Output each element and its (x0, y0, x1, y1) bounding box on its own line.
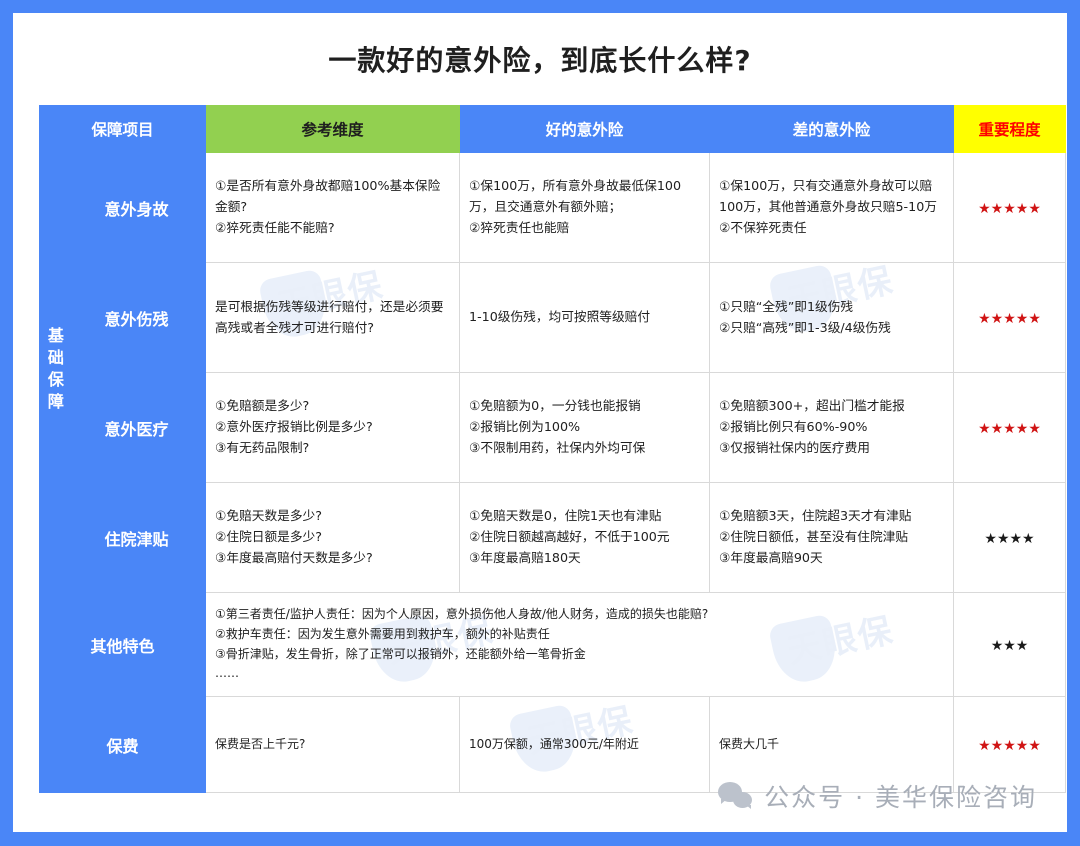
page-title: 一款好的意外险，到底长什么样? (13, 13, 1067, 79)
wechat-icon (718, 782, 754, 810)
cell-good: 1-10级伤残，均可按照等级赔付 (460, 263, 710, 373)
cell-other-features: ①第三者责任/监护人责任：因为个人原因，意外损伤他人身故/他人财务，造成的损失也… (206, 593, 954, 697)
star-rating: ★★★★ (984, 531, 1034, 547)
cell-importance: ★★★ (954, 593, 1066, 697)
cell-reference: ①是否所有意外身故都赔100%基本保险金额? ②猝死责任能不能赔? (206, 153, 460, 263)
cell-importance: ★★★★★ (954, 153, 1066, 263)
row-item-label: 意外伤残 (68, 263, 206, 373)
page-frame: 天眼保 天眼保 天眼保 天眼保 天眼保 一款好的意外险，到底长什么样? 保障项目 (0, 0, 1080, 846)
cell-bad: ①免赔额3天，住院超3天才有津贴 ②住院日额低，甚至没有住院津贴 ③年度最高赔9… (710, 483, 954, 593)
table-header-row: 保障项目 参考维度 好的意外险 差的意外险 重要程度 (40, 106, 1066, 153)
header-good-insurance: 好的意外险 (460, 106, 710, 153)
header-bad-insurance: 差的意外险 (710, 106, 954, 153)
table-row: 基础保障 意外身故 ①是否所有意外身故都赔100%基本保险金额? ②猝死责任能不… (40, 153, 1066, 263)
star-rating: ★★★★★ (978, 311, 1041, 327)
comparison-table-wrapper: 保障项目 参考维度 好的意外险 差的意外险 重要程度 基础保障 意外身故 ①是否… (13, 79, 1067, 793)
row-item-label: 意外医疗 (68, 373, 206, 483)
comparison-table: 保障项目 参考维度 好的意外险 差的意外险 重要程度 基础保障 意外身故 ①是否… (39, 105, 1066, 793)
group-basic-coverage: 基础保障 (40, 153, 68, 593)
row-item-label: 住院津贴 (68, 483, 206, 593)
page-canvas: 天眼保 天眼保 天眼保 天眼保 天眼保 一款好的意外险，到底长什么样? 保障项目 (13, 13, 1067, 832)
header-reference-dimension: 参考维度 (206, 106, 460, 153)
star-rating: ★★★ (991, 638, 1029, 654)
group-basic-coverage-label: 基础保障 (45, 327, 62, 415)
cell-importance: ★★★★★ (954, 263, 1066, 373)
table-row: 意外伤残 是可根据伤残等级进行赔付，还是必须要高残或者全残才可进行赔付? 1-1… (40, 263, 1066, 373)
cell-good: ①免赔天数是0，住院1天也有津贴 ②住院日额越高越好，不低于100元 ③年度最高… (460, 483, 710, 593)
footer-text: 公众号 · 美华保险咨询 (764, 778, 1037, 814)
star-rating: ★★★★★ (978, 738, 1041, 754)
footer-attribution: 公众号 · 美华保险咨询 (718, 778, 1037, 814)
row-item-label: 其他特色 (40, 593, 206, 697)
cell-bad: ①保100万，只有交通意外身故可以赔100万，其他普通意外身故只赔5-10万 ②… (710, 153, 954, 263)
star-rating: ★★★★★ (978, 201, 1041, 217)
cell-importance: ★★★★★ (954, 373, 1066, 483)
cell-good: 100万保额，通常300元/年附近 (460, 697, 710, 793)
table-row: 意外医疗 ①免赔额是多少? ②意外医疗报销比例是多少? ③有无药品限制? ①免赔… (40, 373, 1066, 483)
table-row: 住院津贴 ①免赔天数是多少? ②住院日额是多少? ③年度最高赔付天数是多少? ①… (40, 483, 1066, 593)
cell-good: ①保100万，所有意外身故最低保100万，且交通意外有额外赔； ②猝死责任也能赔 (460, 153, 710, 263)
star-rating: ★★★★★ (978, 421, 1041, 437)
cell-reference: ①免赔额是多少? ②意外医疗报销比例是多少? ③有无药品限制? (206, 373, 460, 483)
cell-reference: 保费是否上千元? (206, 697, 460, 793)
cell-importance: ★★★★ (954, 483, 1066, 593)
cell-bad: ①免赔额300+，超出门槛才能报 ②报销比例只有60%-90% ③仅报销社保内的… (710, 373, 954, 483)
row-item-label: 保费 (40, 697, 206, 793)
cell-reference: 是可根据伤残等级进行赔付，还是必须要高残或者全残才可进行赔付? (206, 263, 460, 373)
cell-good: ①免赔额为0，一分钱也能报销 ②报销比例为100% ③不限制用药，社保内外均可保 (460, 373, 710, 483)
cell-bad: ①只赔“全残”即1级伤残 ②只赔“高残”即1-3级/4级伤残 (710, 263, 954, 373)
header-coverage-item: 保障项目 (40, 106, 206, 153)
table-row: 其他特色 ①第三者责任/监护人责任：因为个人原因，意外损伤他人身故/他人财务，造… (40, 593, 1066, 697)
header-importance: 重要程度 (954, 106, 1066, 153)
cell-reference: ①免赔天数是多少? ②住院日额是多少? ③年度最高赔付天数是多少? (206, 483, 460, 593)
row-item-label: 意外身故 (68, 153, 206, 263)
